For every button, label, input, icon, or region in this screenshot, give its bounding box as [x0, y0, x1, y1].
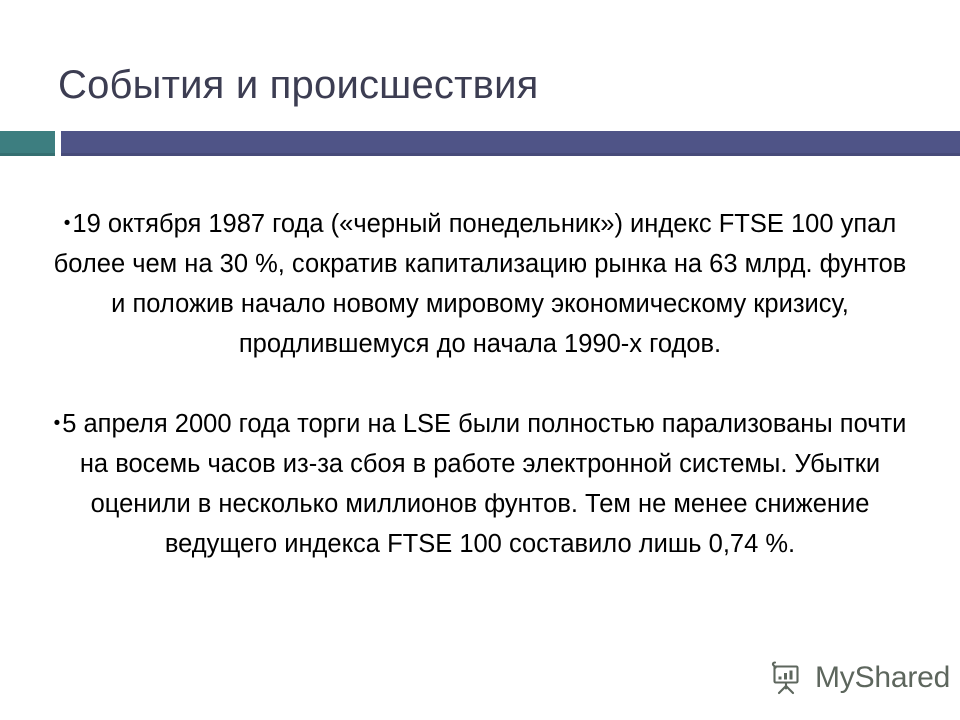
slide-body: •19 октября 1987 года («черный понедельн…	[45, 178, 915, 589]
slide: События и происшествия •19 октября 1987 …	[0, 0, 960, 720]
bullet-paragraph-2-text: 5 апреля 2000 года торги на LSE были пол…	[62, 410, 906, 558]
page-title: События и происшествия	[58, 60, 918, 110]
myshared-watermark-label: MyShared	[815, 662, 950, 694]
bullet-paragraph-1-text: 19 октября 1987 года («черный понедельни…	[54, 210, 907, 358]
purple-divider-bar-shadow	[61, 153, 960, 156]
bullet-icon: •	[54, 413, 63, 434]
myshared-watermark: MyShared	[766, 658, 950, 698]
bullet-paragraph-2: •5 апреля 2000 года торги на LSE были по…	[45, 404, 915, 564]
teal-accent-block-shadow	[0, 153, 55, 156]
divider	[0, 131, 960, 156]
bullet-paragraph-1: •19 октября 1987 года («черный понедельн…	[45, 204, 915, 364]
flipchart-bar-chart-icon	[766, 658, 806, 698]
